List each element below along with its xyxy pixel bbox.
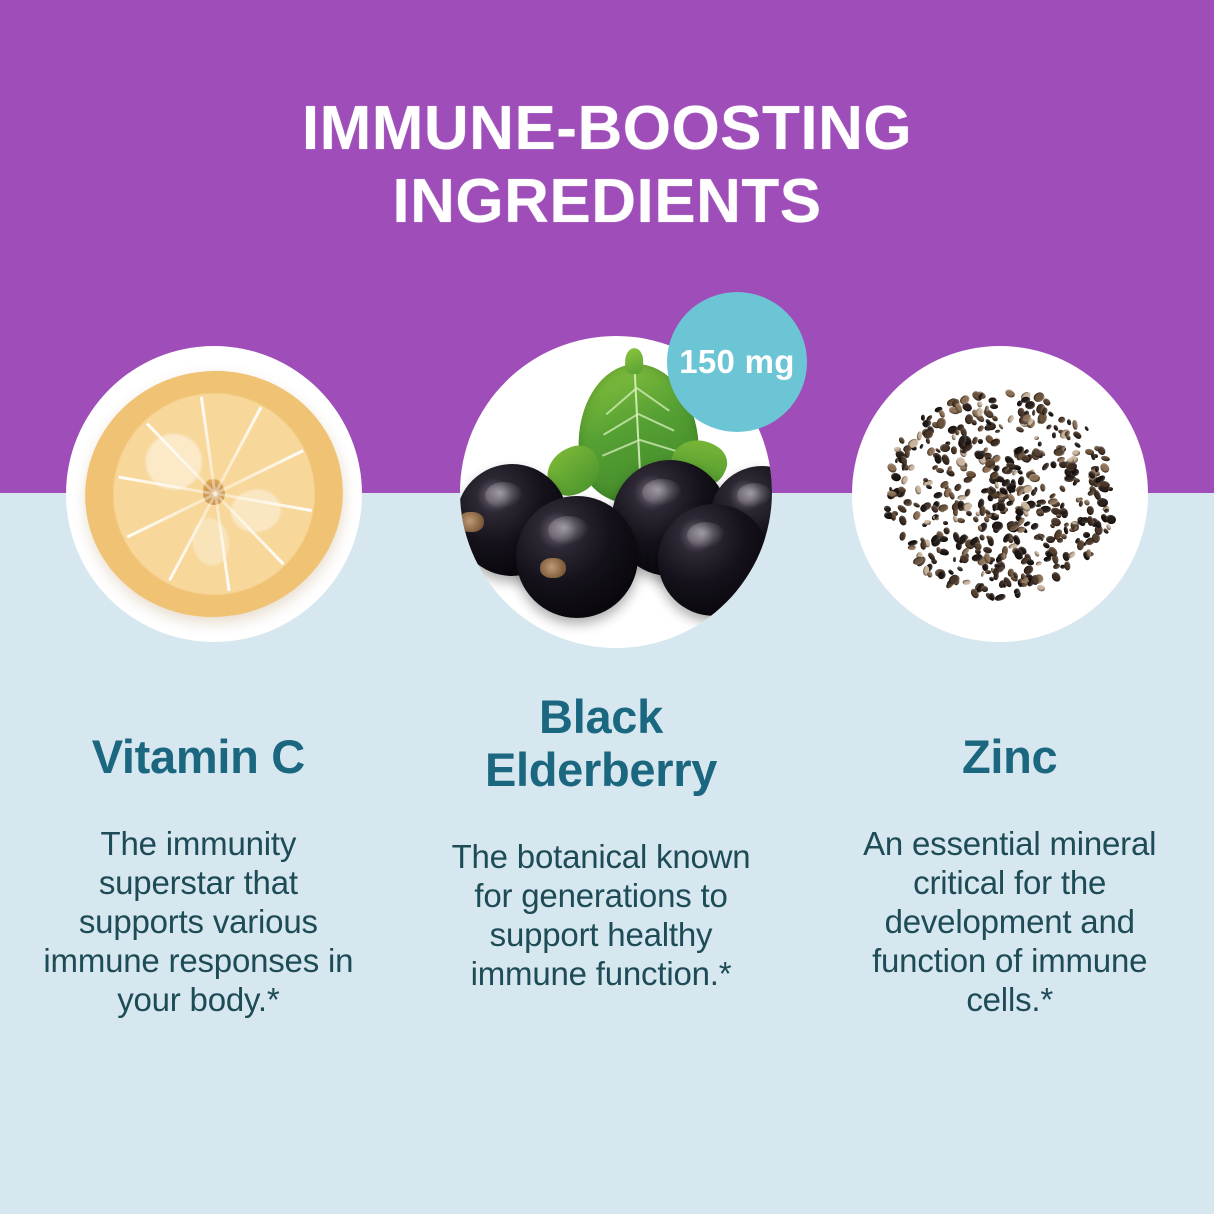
- ingredient-columns: Vitamin C The immunity superstar that su…: [0, 690, 1214, 1020]
- chia-seed: [1005, 500, 1013, 507]
- chia-seed: [1052, 432, 1056, 438]
- chia-seed: [998, 423, 1004, 429]
- chia-seed: [1040, 483, 1046, 491]
- chia-seed: [1083, 531, 1090, 537]
- ingredient-card-vitamin-c: Vitamin C The immunity superstar that su…: [0, 690, 397, 1020]
- chia-seed: [976, 424, 985, 433]
- chia-seed: [920, 443, 925, 449]
- ingredient-card-zinc: Zinc An essential mineral critical for t…: [805, 690, 1214, 1020]
- chia-seed: [1083, 426, 1089, 432]
- chia-seed: [1028, 473, 1039, 482]
- chia-seed: [1108, 487, 1114, 491]
- ingredient-name: Zinc: [845, 730, 1174, 783]
- chia-seed: [908, 545, 916, 550]
- chia-seed: [940, 443, 950, 451]
- chia-seed: [963, 580, 971, 585]
- chia-seed: [1003, 388, 1015, 399]
- chia-seed: [1034, 550, 1040, 557]
- chia-seed: [953, 515, 958, 523]
- chia-seed: [1074, 441, 1082, 449]
- chia-seed: [1035, 561, 1042, 566]
- chia-seed-pile-icon: [881, 387, 1119, 601]
- chia-seed: [1034, 436, 1039, 440]
- chia-seed: [987, 494, 993, 502]
- chia-seed: [1030, 574, 1039, 585]
- elderberry-calyx: [460, 512, 484, 532]
- chia-seed: [1066, 419, 1072, 426]
- chia-seed: [898, 436, 906, 445]
- page-title: IMMUNE-BOOSTING INGREDIENTS: [0, 92, 1214, 238]
- chia-seed: [915, 485, 922, 495]
- chia-seed: [994, 430, 1000, 434]
- chia-seed: [942, 520, 948, 525]
- chia-seed: [994, 592, 1006, 601]
- ingredient-description: An essential mineral critical for the de…: [845, 825, 1174, 1020]
- chia-seed: [1046, 424, 1053, 431]
- chia-seed: [1040, 461, 1050, 471]
- chia-seed: [1075, 497, 1079, 502]
- chia-seed: [953, 482, 963, 492]
- chia-seed: [1071, 419, 1078, 429]
- chia-seed: [922, 429, 934, 440]
- chia-seed: [1064, 561, 1071, 571]
- elderberry-berry: [516, 496, 638, 618]
- infographic-canvas: IMMUNE-BOOSTING INGREDIENTS: [0, 0, 1214, 1214]
- chia-seed: [1050, 461, 1057, 469]
- chia-seed: [1084, 448, 1094, 456]
- chia-seed: [1050, 570, 1062, 583]
- chia-seed: [1053, 562, 1061, 569]
- chia-seed: [1037, 441, 1042, 447]
- chia-seed: [1096, 497, 1108, 507]
- chia-seed: [927, 571, 933, 578]
- ingredient-name: Vitamin C: [34, 730, 363, 783]
- chia-seed: [939, 536, 948, 542]
- ingredient-description: The immunity superstar that supports var…: [34, 825, 363, 1020]
- elderberry-berry: [658, 504, 770, 616]
- chia-seed: [1047, 411, 1054, 418]
- ingredient-card-black-elderberry: Black Elderberry The botanical known for…: [397, 690, 806, 1020]
- chia-seed: [1017, 476, 1025, 486]
- chia-seed: [937, 547, 941, 553]
- ingredient-image-vitamin-c: [66, 346, 362, 642]
- chia-seed: [1057, 416, 1066, 424]
- chia-seed: [900, 474, 910, 485]
- chia-seed: [950, 446, 957, 454]
- chia-seed: [980, 570, 985, 576]
- dosage-badge: 150 mg: [667, 292, 807, 432]
- chia-seed: [953, 557, 956, 562]
- chia-seed: [1101, 455, 1111, 462]
- ingredient-image-zinc: [852, 346, 1148, 642]
- chia-seed: [990, 403, 998, 408]
- chia-seed: [898, 515, 908, 526]
- chia-seed: [1072, 430, 1082, 440]
- chia-seed: [991, 522, 1002, 531]
- elderberry-calyx: [540, 558, 566, 578]
- chia-seed: [933, 491, 943, 500]
- chia-seed: [1104, 513, 1117, 525]
- chia-seed: [1006, 414, 1014, 423]
- chia-seed: [893, 446, 900, 451]
- chia-seed: [911, 510, 922, 522]
- chia-seed: [1099, 461, 1111, 473]
- chia-seed: [1053, 424, 1059, 431]
- chia-seed: [994, 513, 1000, 517]
- chia-seed: [891, 513, 896, 520]
- chia-seed: [1094, 465, 1099, 472]
- chia-seed: [1032, 410, 1035, 416]
- chia-seed: [948, 491, 956, 500]
- chia-seed: [899, 531, 907, 541]
- chia-seed: [1059, 484, 1067, 492]
- ingredient-description: The botanical known for generations to s…: [437, 838, 766, 994]
- page-title-line-1: IMMUNE-BOOSTING: [302, 94, 912, 163]
- chia-seed: [1067, 550, 1076, 559]
- chia-seed: [1072, 450, 1080, 456]
- chia-seed: [978, 438, 985, 444]
- chia-seed: [1036, 583, 1046, 592]
- chia-seed: [972, 516, 979, 524]
- citrus-slice-icon: [69, 354, 359, 634]
- chia-seed: [957, 565, 964, 572]
- chia-seed: [1030, 522, 1040, 531]
- chia-seed: [980, 505, 986, 515]
- ingredient-name: Black Elderberry: [437, 690, 766, 796]
- dosage-badge-label: 150 mg: [679, 343, 795, 381]
- chia-seed: [964, 488, 971, 497]
- chia-seed: [926, 484, 933, 490]
- page-title-line-2: INGREDIENTS: [0, 165, 1214, 238]
- chia-seed: [985, 569, 991, 574]
- chia-seed: [936, 417, 947, 430]
- chia-seed: [938, 504, 950, 513]
- chia-seed: [1086, 505, 1094, 515]
